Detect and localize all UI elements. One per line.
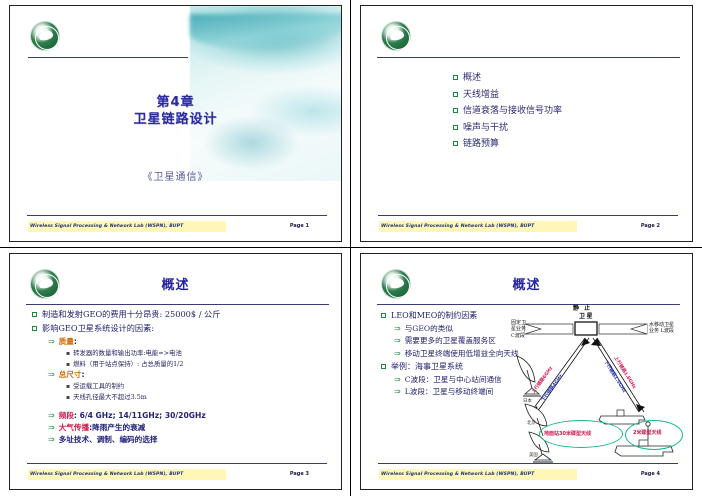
list-item: ▪ 燃料（用于站点保持）: 占总质量的1/2 xyxy=(66,360,331,369)
slide-4-footer: Wireless Signal Processing & Network Lab… xyxy=(361,463,692,489)
toc-label: 天线增益 xyxy=(463,89,499,101)
dot-bullet-icon: ▪ xyxy=(66,382,70,391)
sub-bullet-text: 需要更多的卫星覆盖服务区 xyxy=(405,336,496,346)
list-item: LEO和MEO的制约因素 xyxy=(381,310,521,321)
list-item: ⇒ 频段: 6/4 GHz; 14/11GHz; 30/20GHz xyxy=(48,411,331,421)
list-item[interactable]: 链路预算 xyxy=(453,138,562,150)
ship-antenna-label: 2米碟型天线 xyxy=(633,429,661,436)
place-label-beijing: 北京 xyxy=(527,420,536,426)
square-bullet-icon xyxy=(32,312,37,317)
bullet-text: 影响GEO卫星系统设计的因素: xyxy=(42,323,154,334)
slide-1-footer: Wireless Signal Processing & Network Lab… xyxy=(10,215,341,241)
slide-3-content: 制造和发射GEO的费用十分昂贵: 25000$ / 公斤 影响GEO卫星系统设计… xyxy=(32,309,331,447)
arrow-bullet-icon: ⇒ xyxy=(48,411,55,421)
dot-bullet-icon: ▪ xyxy=(66,393,70,402)
list-item: ⇒ 总尺寸: xyxy=(48,370,331,380)
left-service-label: 固定卫 星业务 C波段 xyxy=(511,320,526,339)
footer-lab-text: Wireless Signal Processing & Network Lab… xyxy=(381,221,534,232)
sub-bullet-text: 转发器的数量和输出功率:电能=>电池 xyxy=(73,349,182,358)
footer-rule xyxy=(378,463,678,464)
list-item: ⇒ 移动卫星终端使用低增益全向天线 xyxy=(394,349,521,359)
header-rule xyxy=(377,304,680,305)
square-bullet-icon xyxy=(453,108,458,113)
slide-4[interactable]: 概述 LEO和MEO的制约因素 ⇒ 与GEO的类似 ⇒ 需要更多的卫星覆盖服务区… xyxy=(351,248,701,495)
bupt-logo-icon xyxy=(30,21,60,51)
header-rule xyxy=(377,57,680,58)
frequency-value: : 6/4 GHz; 14/11GHz; 30/20GHz xyxy=(74,411,206,420)
keyword-size: 总尺寸 xyxy=(59,370,82,379)
page-number: Page 2 xyxy=(641,221,660,232)
slide-3[interactable]: 概述 制造和发射GEO的费用十分昂贵: 25000$ / 公斤 影响GEO卫星系… xyxy=(0,248,350,495)
footer-lab-text: Wireless Signal Processing & Network Lab… xyxy=(30,469,183,480)
colon: : xyxy=(81,370,84,379)
slide-2-footer: Wireless Signal Processing & Network Lab… xyxy=(361,215,692,241)
arrow-bullet-icon: ⇒ xyxy=(394,349,401,359)
arrow-bullet-icon: ⇒ xyxy=(394,324,401,334)
arrow-bullet-icon: ⇒ xyxy=(48,370,55,380)
slide-1-frame: 第4章 卫星链路设计 《卫星通信》 Wireless Signal Proces… xyxy=(9,5,342,242)
arrow-bullet-icon: ⇒ xyxy=(394,387,401,397)
list-item: 举例：海事卫星系统 xyxy=(381,361,521,372)
right-service-label: 水移动卫星 业务 L波段 xyxy=(649,322,674,335)
bullet-text: 频段: 6/4 GHz; 14/11GHz; 30/20GHz xyxy=(59,411,206,421)
page-number: Page 1 xyxy=(290,221,309,232)
slide-2-frame: 概述 天线增益 信道衰落与接收信号功率 噪声与干扰 链路预算 xyxy=(360,5,693,242)
spacer xyxy=(32,403,331,411)
square-bullet-icon xyxy=(32,326,37,331)
list-item: 影响GEO卫星系统设计的因素: xyxy=(32,323,331,334)
slide-2[interactable]: 概述 天线增益 信道衰落与接收信号功率 噪声与干扰 链路预算 xyxy=(351,0,701,247)
sub-bullet-text: C波段：卫星与中心站间通信 xyxy=(405,375,502,385)
square-bullet-icon xyxy=(381,313,386,318)
slide-1[interactable]: 第4章 卫星链路设计 《卫星通信》 Wireless Signal Proces… xyxy=(0,0,350,247)
sub-bullet-text: 燃料（用于站点保持）: 占总质量的1/2 xyxy=(73,360,183,369)
arrow-bullet-icon: ⇒ xyxy=(48,423,55,433)
sub-bullet-text: 受运载工具的制约 xyxy=(73,382,124,391)
sub-bullet-text: 天线孔径最大不超过3.5m xyxy=(73,393,147,402)
title-line-1: 第4章 xyxy=(10,94,341,111)
list-item: ▪ 转发器的数量和输出功率:电能=>电池 xyxy=(66,349,331,358)
footer-lab-text: Wireless Signal Processing & Network Lab… xyxy=(381,469,534,480)
list-item: ▪ 受运载工具的制约 xyxy=(66,382,331,391)
title-line-2: 卫星链路设计 xyxy=(10,111,341,128)
footer-lab-text: Wireless Signal Processing & Network Lab… xyxy=(30,221,183,232)
sub-bullet-text: L波段：卫星与移动终端间 xyxy=(405,387,494,397)
toc-label: 信道衰落与接收信号功率 xyxy=(463,105,562,117)
bupt-logo-icon xyxy=(381,21,411,51)
slide-3-frame: 概述 制造和发射GEO的费用十分昂贵: 25000$ / 公斤 影响GEO卫星系… xyxy=(9,253,342,490)
toc-label: 概述 xyxy=(463,72,481,84)
sub-bullet-text: 移动卫星终端使用低增益全向天线 xyxy=(405,349,519,359)
arrow-bullet-icon: ⇒ xyxy=(394,336,401,346)
ground-station-antenna-label: 地面站30米碟型天线 xyxy=(544,430,591,437)
colon: : xyxy=(74,337,77,346)
bullet-text: 举例：海事卫星系统 xyxy=(391,361,463,372)
page-title: 概述 xyxy=(10,274,341,293)
list-item[interactable]: 天线增益 xyxy=(453,89,562,101)
bullet-text: 制造和发射GEO的费用十分昂贵: 25000$ / 公斤 xyxy=(42,309,220,320)
keyword-atmosphere: 大气传播 xyxy=(59,423,89,432)
list-item[interactable]: 信道衰落与接收信号功率 xyxy=(453,105,562,117)
slide-4-frame: 概述 LEO和MEO的制约因素 ⇒ 与GEO的类似 ⇒ 需要更多的卫星覆盖服务区… xyxy=(360,253,693,490)
list-item: ⇒ 质量: xyxy=(48,337,331,347)
list-item: ⇒ 多址技术、调制、编码的选择 xyxy=(48,435,331,445)
list-item[interactable]: 概述 xyxy=(453,72,562,84)
arrow-bullet-icon: ⇒ xyxy=(394,375,401,385)
list-item: ⇒ C波段：卫星与中心站间通信 xyxy=(394,375,521,385)
list-item[interactable]: 噪声与干扰 xyxy=(453,122,562,134)
bullet-text: 总尺寸: xyxy=(59,370,85,380)
list-item: ⇒ 与GEO的类似 xyxy=(394,324,521,334)
list-item: ⇒ 需要更多的卫星覆盖服务区 xyxy=(394,336,521,346)
slide-contact-sheet: 第4章 卫星链路设计 《卫星通信》 Wireless Signal Proces… xyxy=(0,0,702,496)
slide-4-content: LEO和MEO的制约因素 ⇒ 与GEO的类似 ⇒ 需要更多的卫星覆盖服务区 ⇒ … xyxy=(381,310,521,400)
page-subtitle: 《卫星通信》 xyxy=(10,168,341,183)
header-rule xyxy=(28,57,188,58)
square-bullet-icon xyxy=(453,141,458,146)
square-bullet-icon xyxy=(453,125,458,130)
keyword-frequency: 频段 xyxy=(59,411,74,420)
page-number: Page 3 xyxy=(290,469,309,480)
page-title: 第4章 卫星链路设计 xyxy=(10,94,341,128)
arrow-bullet-icon: ⇒ xyxy=(48,337,55,347)
sub-bullet-text: 与GEO的类似 xyxy=(405,324,453,334)
dot-bullet-icon: ▪ xyxy=(66,349,70,358)
toc-label: 噪声与干扰 xyxy=(463,122,508,134)
bullet-text: 大气传播:降雨产生的衰减 xyxy=(59,423,146,433)
list-item: ⇒ 大气传播:降雨产生的衰减 xyxy=(48,423,331,433)
atmosphere-value: :降雨产生的衰减 xyxy=(89,423,145,432)
footer-rule xyxy=(27,215,327,216)
list-item: ▪ 天线孔径最大不超过3.5m xyxy=(66,393,331,402)
footer-rule xyxy=(378,215,678,216)
square-bullet-icon xyxy=(453,92,458,97)
list-item: 制造和发射GEO的费用十分昂贵: 25000$ / 公斤 xyxy=(32,309,331,320)
footer-rule xyxy=(27,463,327,464)
bullet-text: LEO和MEO的制约因素 xyxy=(391,310,477,321)
header-rule xyxy=(26,304,329,305)
table-of-contents: 概述 天线增益 信道衰落与接收信号功率 噪声与干扰 链路预算 xyxy=(453,72,562,155)
square-bullet-icon xyxy=(381,364,386,369)
square-bullet-icon xyxy=(453,75,458,80)
slide-3-footer: Wireless Signal Processing & Network Lab… xyxy=(10,463,341,489)
satellite-link-diagram: 静 止 卫星 xyxy=(511,308,691,468)
keyword-mass: 质量 xyxy=(59,337,74,346)
page-number: Page 4 xyxy=(641,469,660,480)
page-title: 概述 xyxy=(361,274,692,293)
toc-label: 链路预算 xyxy=(463,138,499,150)
arrow-bullet-icon: ⇒ xyxy=(48,435,55,445)
list-item: ⇒ L波段：卫星与移动终端间 xyxy=(394,387,521,397)
place-label-usa: 美国 xyxy=(529,452,538,458)
bullet-text: 多址技术、调制、编码的选择 xyxy=(59,435,158,445)
bullet-text: 质量: xyxy=(59,337,77,347)
dot-bullet-icon: ▪ xyxy=(66,360,70,369)
place-label-japan: 日本 xyxy=(523,398,532,404)
